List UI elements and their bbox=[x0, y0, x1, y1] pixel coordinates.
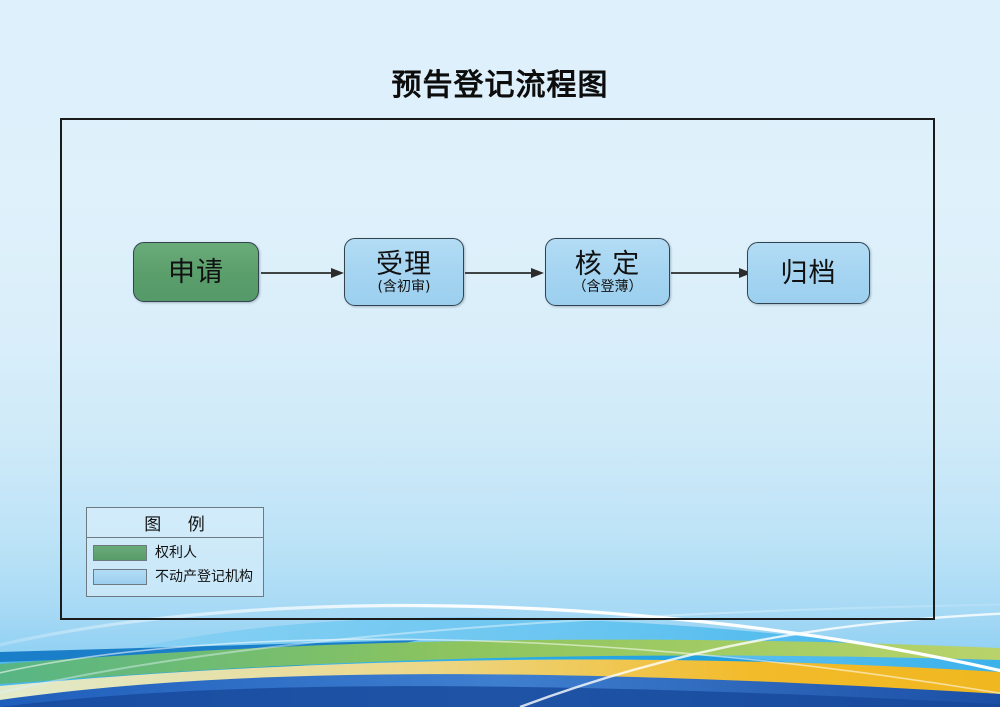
flow-node-apply[interactable]: 申请 bbox=[133, 242, 259, 302]
flow-node-apply-label: 申请 bbox=[168, 257, 224, 288]
legend-label-rights-holder: 权利人 bbox=[155, 545, 197, 561]
flow-node-accept-sublabel: (含初审) bbox=[378, 279, 431, 296]
flow-node-archive[interactable]: 归档 bbox=[747, 242, 870, 304]
flow-node-accept[interactable]: 受理 (含初审) bbox=[344, 238, 464, 306]
legend-label-registration-agency: 不动产登记机构 bbox=[155, 569, 253, 585]
page-title: 预告登记流程图 bbox=[0, 68, 1000, 104]
legend-swatch-blue bbox=[93, 569, 147, 585]
legend-title: 图 例 bbox=[87, 508, 263, 538]
legend-item-rights-holder: 权利人 bbox=[93, 543, 263, 562]
legend: 图 例 权利人 不动产登记机构 bbox=[86, 507, 264, 597]
flow-node-accept-label: 受理 bbox=[376, 249, 432, 280]
flow-node-archive-label: 归档 bbox=[781, 258, 837, 289]
arrow-right-icon-apply-accept bbox=[261, 267, 345, 279]
arrow-right-icon-accept-approve bbox=[465, 267, 545, 279]
legend-swatch-green bbox=[93, 545, 147, 561]
legend-item-registration-agency: 不动产登记机构 bbox=[93, 567, 263, 586]
slide-canvas: 预告登记流程图 申请 受理 (含初审) 核 定 （含登薄） bbox=[0, 0, 1000, 707]
flow-node-approve-label: 核 定 bbox=[575, 249, 641, 280]
flow-node-approve[interactable]: 核 定 （含登薄） bbox=[545, 238, 670, 306]
flow-node-approve-sublabel: （含登薄） bbox=[573, 279, 643, 296]
arrow-right-icon-approve-archive bbox=[671, 267, 753, 279]
